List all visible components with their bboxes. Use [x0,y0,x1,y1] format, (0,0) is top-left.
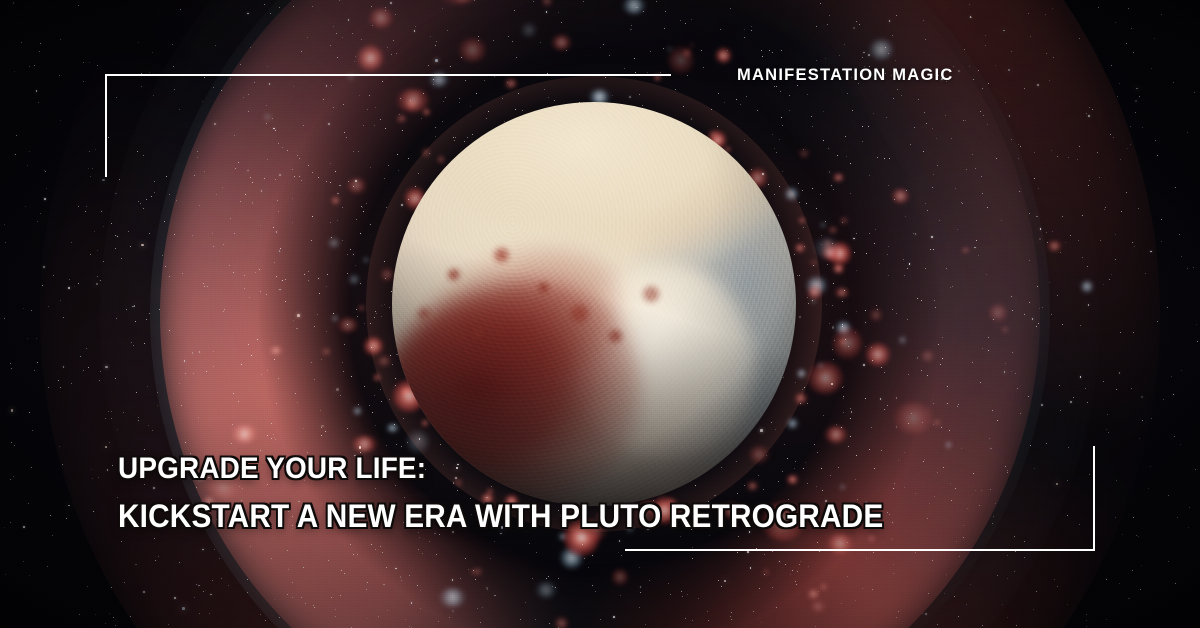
headline-line-1: UPGRADE YOUR LIFE: [118,452,955,486]
pluto-terminator-shading [392,102,796,506]
headline-block: UPGRADE YOUR LIFE: KICKSTART A NEW ERA W… [118,452,1018,534]
headline-line-2: KICKSTART A NEW ERA WITH PLUTO RETROGRAD… [118,498,955,534]
pluto-retrograde-banner: MANIFESTATION MAGIC UPGRADE YOUR LIFE: K… [0,0,1200,628]
pluto-planet [392,102,796,506]
pluto-disc [392,102,796,506]
brand-label: MANIFESTATION MAGIC [737,64,954,86]
